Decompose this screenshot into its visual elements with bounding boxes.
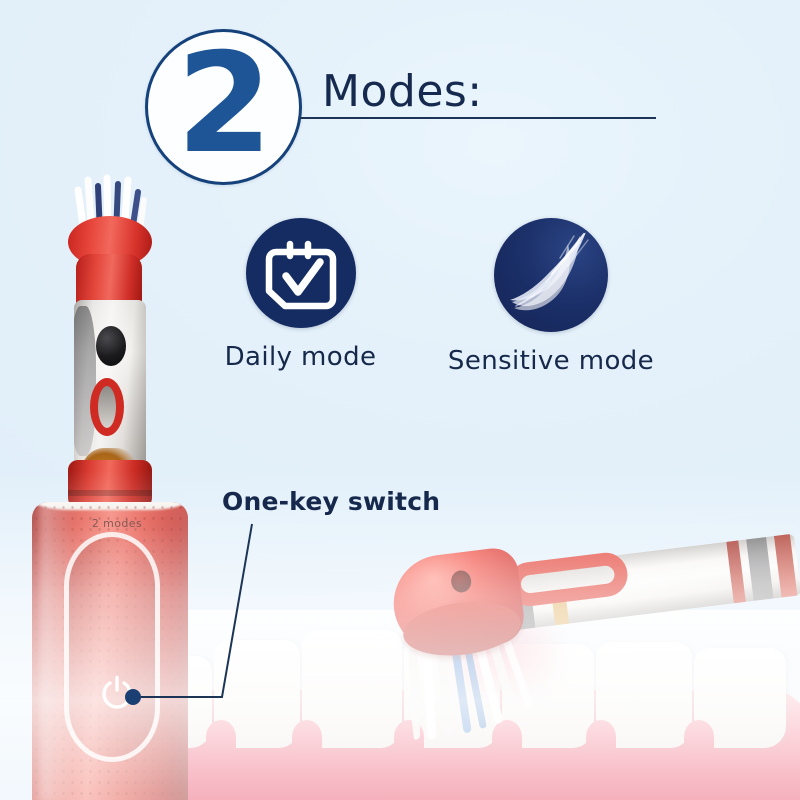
page-title: Modes:	[322, 66, 483, 117]
calendar-check-icon	[246, 218, 356, 328]
mode-item-sensitive[interactable]: Sensitive mode	[445, 218, 657, 376]
callout-label: One-key switch	[222, 487, 440, 516]
character-art	[74, 306, 96, 456]
mode-label-daily: Daily mode	[225, 342, 377, 372]
mode-item-daily[interactable]: Daily mode	[203, 218, 398, 372]
product-feature-banner: 2 modes 2 Modes:	[0, 0, 800, 800]
mode-count-badge: 2	[145, 29, 302, 185]
brush-shaft-pattern	[74, 300, 146, 472]
photo-bottom-haze	[0, 470, 800, 800]
mode-label-sensitive: Sensitive mode	[448, 346, 654, 376]
mode-count-number: 2	[176, 35, 270, 173]
character-ring	[90, 378, 124, 436]
feather-icon	[494, 218, 608, 332]
character-eye	[96, 326, 126, 366]
title-underline	[300, 117, 656, 119]
product-photo: 2 modes	[0, 0, 800, 800]
